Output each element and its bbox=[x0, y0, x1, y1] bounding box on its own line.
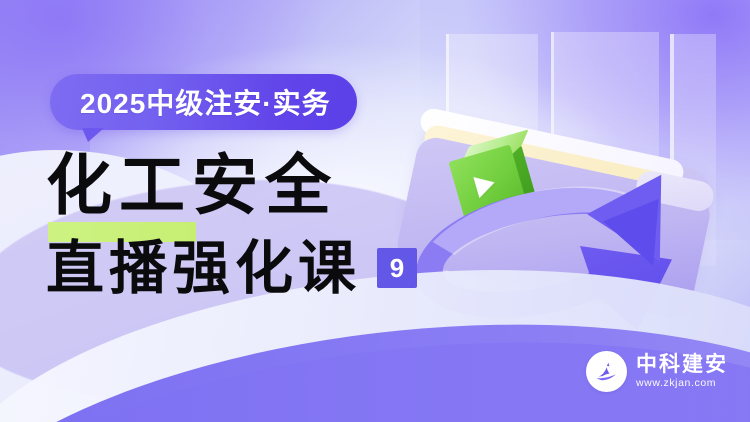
course-category-label: 2025中级注安·实务 bbox=[80, 82, 331, 122]
badge-pointer-tail bbox=[82, 128, 104, 142]
zkjan-mark-icon bbox=[586, 351, 627, 392]
brand-logo-text: 中科建安 www.zkjan.com bbox=[636, 353, 728, 390]
headline-line-1-wrapper: 化工安全 bbox=[46, 146, 466, 228]
brand-url: www.zkjan.com bbox=[636, 376, 728, 390]
brand-logo: 中科建安 www.zkjan.com bbox=[586, 351, 728, 392]
episode-number-badge: 9 bbox=[377, 248, 417, 288]
headline-line-1: 化工安全 bbox=[46, 146, 466, 226]
course-promo-banner: 2025中级注安·实务 化工安全 直播强化课 9 中科建安 www.zkjan.… bbox=[0, 0, 750, 422]
headline-block: 化工安全 直播强化课 9 bbox=[46, 146, 466, 304]
headline-line-2-row: 直播强化课 9 bbox=[46, 232, 466, 304]
headline-line-2: 直播强化课 bbox=[46, 232, 361, 304]
course-category-badge: 2025中级注安·实务 bbox=[50, 74, 357, 130]
brand-name: 中科建安 bbox=[636, 353, 728, 376]
